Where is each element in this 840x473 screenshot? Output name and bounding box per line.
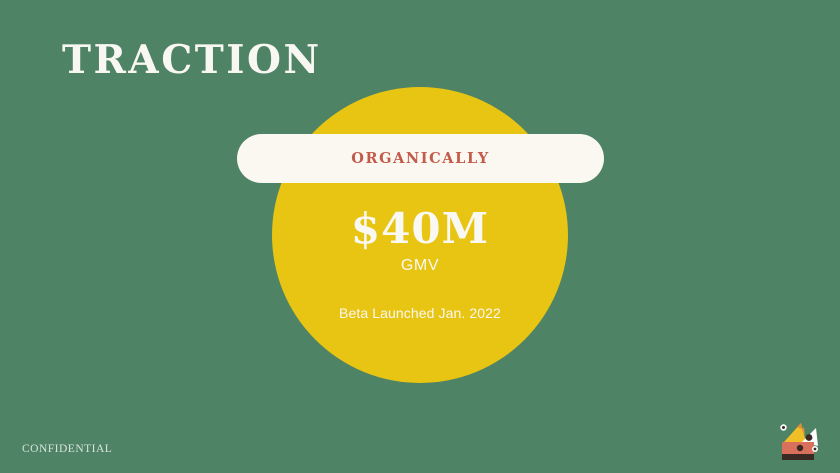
page-title: TRACTION — [62, 38, 322, 82]
mascot-icon — [776, 420, 820, 466]
stat-value: $40M — [272, 206, 568, 252]
stat-label: GMV — [272, 256, 568, 276]
stat-note: Beta Launched Jan. 2022 — [272, 304, 568, 322]
confidential-footer: CONFIDENTIAL — [22, 443, 112, 455]
organically-banner: ORGANICALLY — [237, 134, 604, 183]
brand-logo — [776, 420, 820, 466]
organically-banner-label: ORGANICALLY — [351, 150, 490, 167]
slide-canvas: TRACTION $40M GMV Beta Launched Jan. 202… — [0, 0, 840, 473]
